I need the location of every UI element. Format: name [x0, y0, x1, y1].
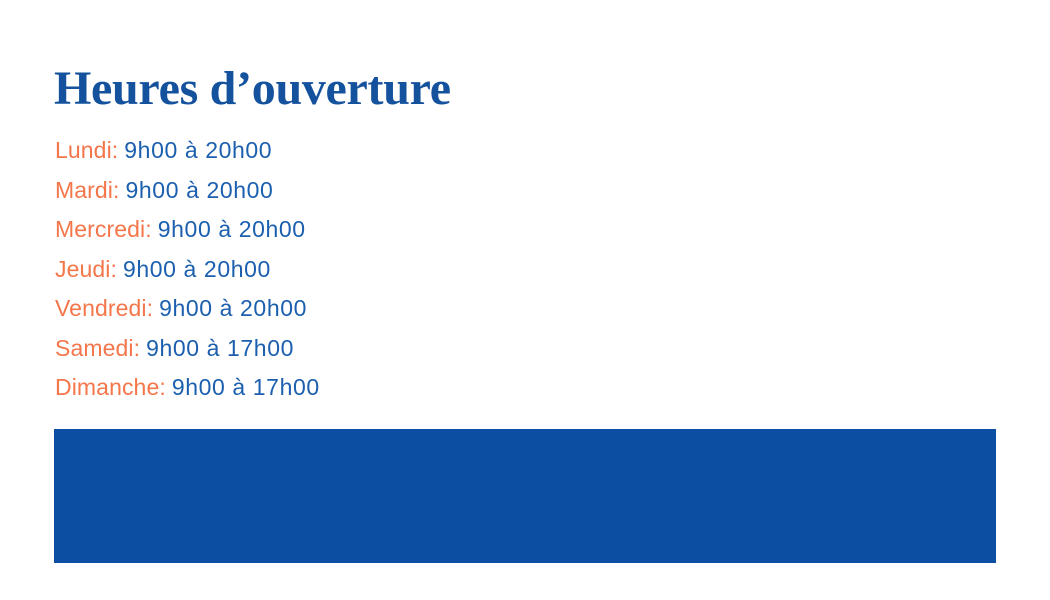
day-label: Samedi:: [55, 335, 140, 361]
day-hours: 9h00 à 20h00: [159, 295, 307, 321]
list-item: Dimanche:9h00 à 17h00: [55, 368, 320, 408]
list-item: Mardi:9h00 à 20h00: [55, 171, 320, 211]
footer-banner-block: [54, 429, 996, 563]
list-item: Lundi:9h00 à 20h00: [55, 131, 320, 171]
day-label: Mercredi:: [55, 216, 152, 242]
day-hours: 9h00 à 20h00: [158, 216, 306, 242]
page-title: Heures d’ouverture: [54, 61, 451, 117]
list-item: Vendredi:9h00 à 20h00: [55, 289, 320, 329]
list-item: Jeudi:9h00 à 20h00: [55, 250, 320, 290]
day-label: Mardi:: [55, 177, 120, 203]
day-hours: 9h00 à 20h00: [123, 256, 271, 282]
day-label: Vendredi:: [55, 295, 153, 321]
day-hours: 9h00 à 20h00: [124, 137, 272, 163]
slide-canvas: Heures d’ouverture Lundi:9h00 à 20h00 Ma…: [0, 0, 1050, 600]
day-hours: 9h00 à 17h00: [172, 374, 320, 400]
day-label: Dimanche:: [55, 374, 166, 400]
day-label: Jeudi:: [55, 256, 117, 282]
day-hours: 9h00 à 20h00: [126, 177, 274, 203]
day-hours: 9h00 à 17h00: [146, 335, 294, 361]
opening-hours-list: Lundi:9h00 à 20h00 Mardi:9h00 à 20h00 Me…: [55, 131, 320, 408]
list-item: Mercredi:9h00 à 20h00: [55, 210, 320, 250]
list-item: Samedi:9h00 à 17h00: [55, 329, 320, 369]
day-label: Lundi:: [55, 137, 118, 163]
